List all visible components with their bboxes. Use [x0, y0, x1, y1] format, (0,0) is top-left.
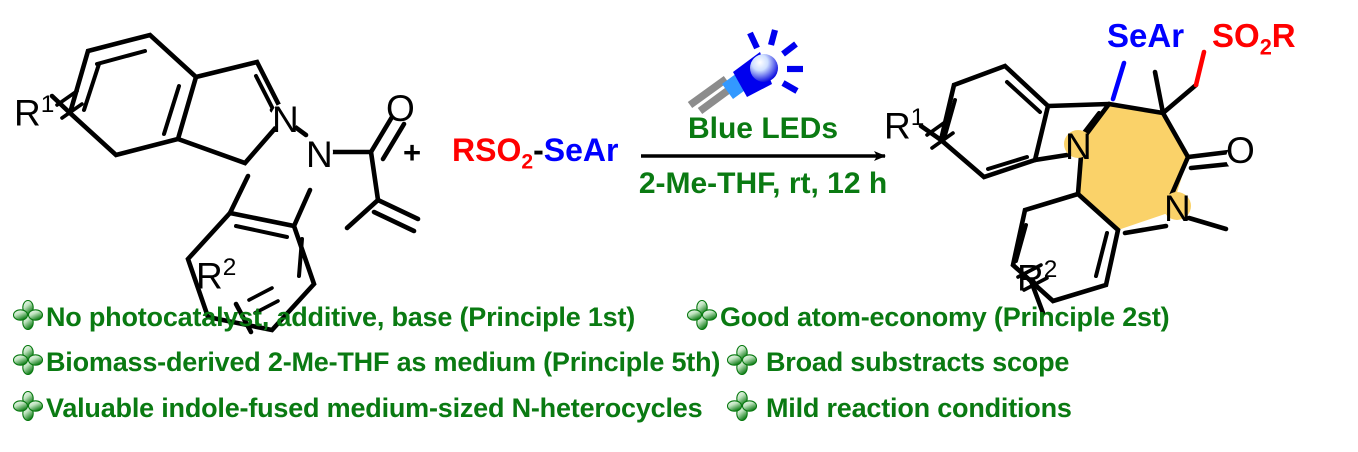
starting-material-acrylamide — [272, 110, 418, 231]
product-sear-bond — [1113, 63, 1124, 99]
highlight-item: Good atom-economy (Principle 2st) — [687, 300, 1169, 335]
reaction-scheme-figure: R1 N N O R2 + RSO2-SeAr Blue LEDs 2-Me-T… — [0, 0, 1358, 452]
clover-icon — [687, 300, 717, 335]
starting-material-indole — [52, 35, 285, 213]
clover-icon — [13, 345, 43, 380]
highlight-item: No photocatalyst, additive, base (Princi… — [13, 300, 635, 335]
highlight-label: Valuable indole-fused medium-sized N-het… — [46, 393, 702, 424]
clover-icon — [13, 391, 43, 426]
highlights-list: No photocatalyst, additive, base (Princi… — [0, 300, 1358, 452]
clover-icon — [13, 300, 43, 335]
clover-icon — [727, 345, 757, 380]
highlight-label: Mild reaction conditions — [766, 393, 1072, 424]
highlight-item: Biomass-derived 2-Me-THF as medium (Prin… — [13, 345, 720, 380]
highlight-label: Good atom-economy (Principle 2st) — [720, 302, 1169, 333]
highlight-label: Biomass-derived 2-Me-THF as medium (Prin… — [46, 347, 720, 378]
highlight-label: Broad substracts scope — [766, 347, 1069, 378]
product-n-aryl-bond — [1078, 156, 1081, 194]
clover-icon — [727, 391, 757, 426]
highlight-item: Valuable indole-fused medium-sized N-het… — [13, 391, 702, 426]
highlight-item: Mild reaction conditions — [727, 391, 1072, 426]
highlight-item: Broad substracts scope — [727, 345, 1069, 380]
blue-led-lamp-icon — [690, 30, 803, 111]
highlight-label: No photocatalyst, additive, base (Princi… — [46, 302, 635, 333]
